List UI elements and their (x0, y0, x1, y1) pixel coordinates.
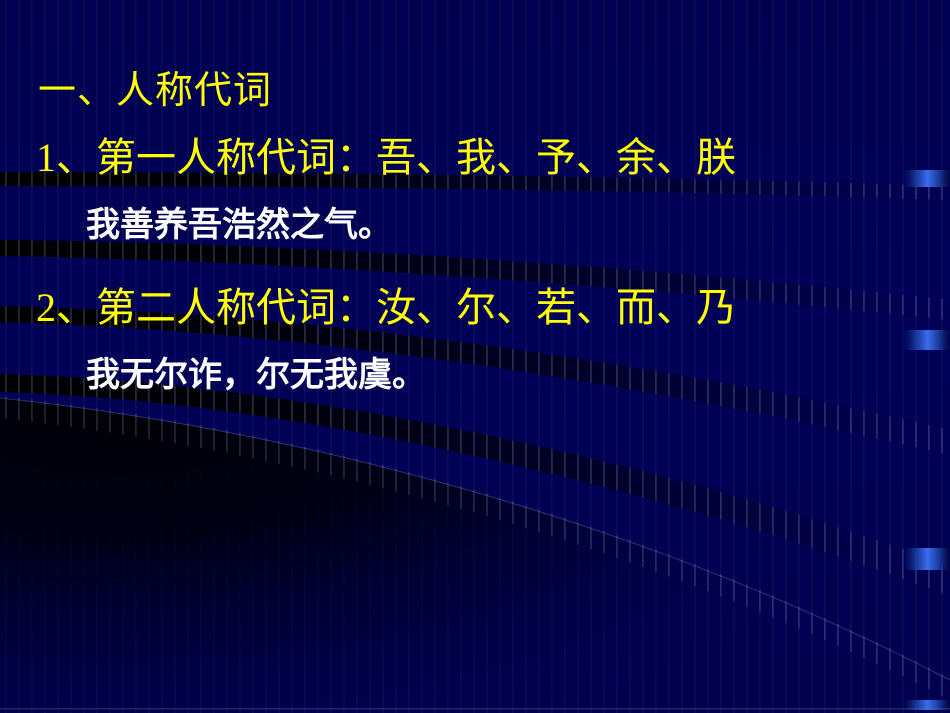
bullet-item-1: 1、第一人称代词：吾、我、予、余、朕 (36, 138, 736, 178)
presentation-slide: 一、人称代词 1、第一人称代词：吾、我、予、余、朕 我善养吾浩然之气。 2、第二… (0, 0, 950, 713)
slide-title: 一、人称代词 (38, 72, 272, 110)
example-quote-1: 我善养吾浩然之气。 (86, 208, 392, 242)
slide-text-content: 一、人称代词 1、第一人称代词：吾、我、予、余、朕 我善养吾浩然之气。 2、第二… (0, 0, 950, 713)
bullet-item-2: 2、第二人称代词：汝、尔、若、而、乃 (36, 288, 736, 328)
example-quote-2: 我无尔诈，尔无我虞。 (86, 358, 426, 392)
